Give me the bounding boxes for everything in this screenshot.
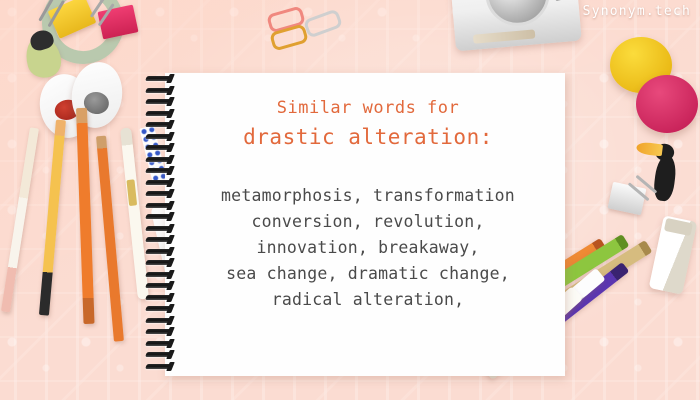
spiral-ring <box>145 306 173 311</box>
page-title-line-2: drastic alteration: <box>185 122 551 153</box>
spiral-ring <box>145 191 173 196</box>
notebook-page: Similar words for drastic alteration: me… <box>165 73 565 376</box>
synonym-line: sea change, dramatic change, <box>185 261 551 287</box>
spiral-ring <box>145 122 173 127</box>
spiral-ring <box>145 88 173 93</box>
synonym-line: innovation, breakaway, <box>185 235 551 261</box>
spiral-ring <box>145 226 173 231</box>
page-title-line-1: Similar words for <box>185 95 551 122</box>
white-tube-cap <box>664 218 693 236</box>
spiral-ring <box>145 272 173 277</box>
notebook-text-block: Similar words for drastic alteration: me… <box>185 95 551 313</box>
spiral-ring <box>145 214 173 219</box>
spiral-ring <box>145 99 173 104</box>
spiral-ring <box>145 157 173 162</box>
desk-scene: Similar words for drastic alteration: me… <box>0 0 700 400</box>
spiral-ring <box>145 134 173 139</box>
spiral-ring <box>145 352 173 357</box>
spiral-ring <box>145 260 173 265</box>
camera-lens <box>483 0 552 28</box>
camera-grip <box>473 29 536 43</box>
spiral-ring <box>145 283 173 288</box>
synonym-line: conversion, revolution, <box>185 209 551 235</box>
macaron-pink <box>636 75 698 133</box>
spiral-ring <box>145 329 173 334</box>
spiral-ring <box>145 249 173 254</box>
synonym-line: radical alteration, <box>185 287 551 313</box>
spiral-ring <box>145 168 173 173</box>
site-watermark: Synonym.tech <box>583 4 691 19</box>
spiral-ring <box>145 76 173 81</box>
spiral-ring <box>145 341 173 346</box>
spiral-ring <box>145 203 173 208</box>
spiral-ring <box>145 145 173 150</box>
spiral-ring <box>145 180 173 185</box>
spiral-ring <box>145 237 173 242</box>
spiral-binding <box>146 76 172 376</box>
cream-pen-clip <box>126 179 137 206</box>
spiral-ring <box>145 318 173 323</box>
spiral-ring <box>145 295 173 300</box>
spiral-ring <box>145 111 173 116</box>
synonym-list: metamorphosis, transformation conversion… <box>185 183 551 313</box>
synonym-line: metamorphosis, transformation <box>185 183 551 209</box>
spiral-ring <box>145 364 173 369</box>
